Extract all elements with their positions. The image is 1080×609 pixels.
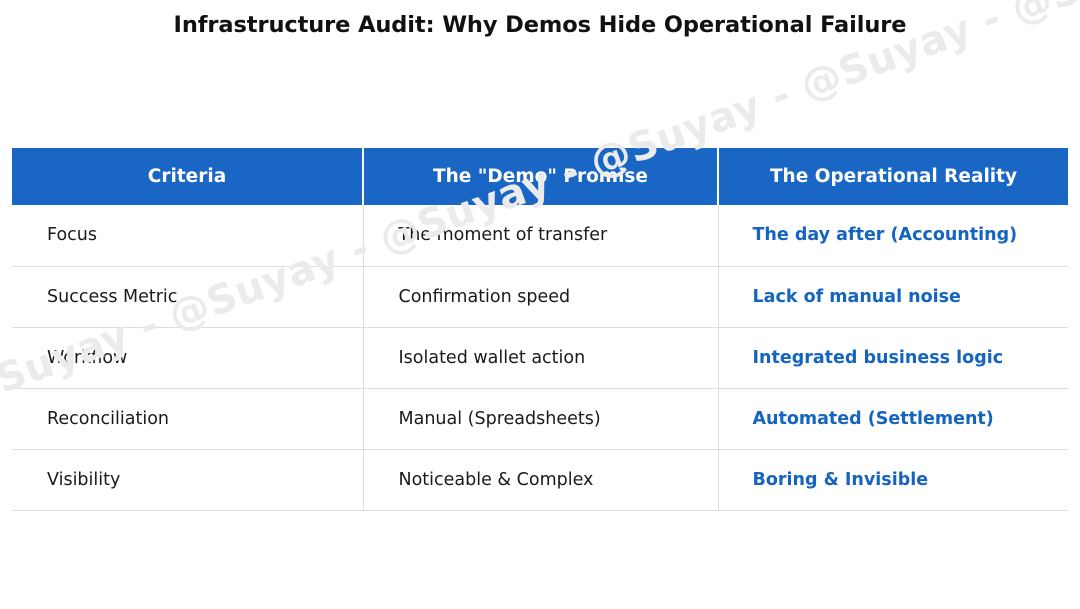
column-header-demo-promise: The "Demo" Promise	[363, 148, 718, 205]
cell-operational-reality: Boring & Invisible	[718, 449, 1068, 510]
cell-demo-promise: Isolated wallet action	[363, 327, 718, 388]
table-body: Focus The moment of transfer The day aft…	[12, 205, 1068, 510]
cell-criteria: Success Metric	[12, 266, 363, 327]
table-row: Reconciliation Manual (Spreadsheets) Aut…	[12, 388, 1068, 449]
cell-criteria: Visibility	[12, 449, 363, 510]
audit-table: Criteria The "Demo" Promise The Operatio…	[12, 148, 1068, 511]
page-title: Infrastructure Audit: Why Demos Hide Ope…	[0, 12, 1080, 38]
cell-operational-reality: The day after (Accounting)	[718, 205, 1068, 266]
cell-criteria: Workflow	[12, 327, 363, 388]
table-row: Workflow Isolated wallet action Integrat…	[12, 327, 1068, 388]
cell-criteria: Reconciliation	[12, 388, 363, 449]
column-header-operational-reality: The Operational Reality	[718, 148, 1068, 205]
table-header: Criteria The "Demo" Promise The Operatio…	[12, 148, 1068, 205]
table-row: Success Metric Confirmation speed Lack o…	[12, 266, 1068, 327]
cell-operational-reality: Automated (Settlement)	[718, 388, 1068, 449]
column-header-criteria: Criteria	[12, 148, 363, 205]
table-row: Focus The moment of transfer The day aft…	[12, 205, 1068, 266]
cell-operational-reality: Integrated business logic	[718, 327, 1068, 388]
cell-demo-promise: Noticeable & Complex	[363, 449, 718, 510]
cell-demo-promise: Manual (Spreadsheets)	[363, 388, 718, 449]
table-row: Visibility Noticeable & Complex Boring &…	[12, 449, 1068, 510]
table-header-row: Criteria The "Demo" Promise The Operatio…	[12, 148, 1068, 205]
cell-demo-promise: Confirmation speed	[363, 266, 718, 327]
cell-demo-promise: The moment of transfer	[363, 205, 718, 266]
cell-operational-reality: Lack of manual noise	[718, 266, 1068, 327]
audit-table-container: Criteria The "Demo" Promise The Operatio…	[12, 148, 1068, 511]
cell-criteria: Focus	[12, 205, 363, 266]
